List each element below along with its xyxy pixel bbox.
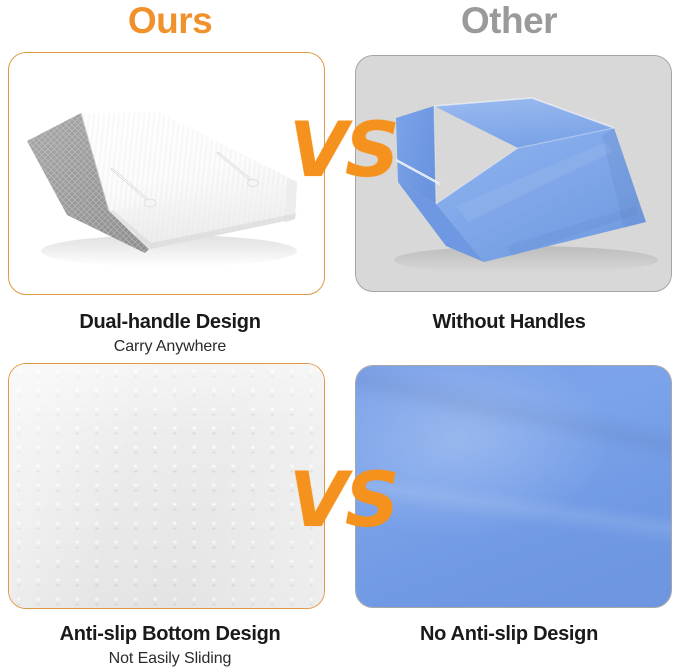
header-ours-label: Ours [0, 0, 340, 44]
vs-badge-row2: VS [289, 462, 397, 538]
other-caption-title-row1: Without Handles [339, 310, 679, 334]
white-wedge-pillow-illustration [9, 53, 323, 293]
white-wedge-pillow-image [9, 53, 324, 294]
blue-wedge-pillow-image [356, 56, 671, 291]
ours-caption-row2: Anti-slip Bottom Design Not Easily Slidi… [0, 622, 340, 669]
ours-product-panel-row2 [8, 363, 325, 609]
comparison-header-row: Ours Other [0, 0, 679, 46]
blue-wedge-pillow-illustration [356, 56, 670, 290]
ours-caption-title-row1: Dual-handle Design [0, 310, 340, 334]
vs-badge-row1: VS [289, 112, 397, 188]
header-other-label: Other [339, 0, 679, 44]
other-product-panel-row1 [355, 55, 672, 292]
ours-caption-sub-row1: Carry Anywhere [0, 336, 340, 357]
ours-caption-sub-row2: Not Easily Sliding [0, 648, 340, 669]
ours-caption-row1: Dual-handle Design Carry Anywhere [0, 310, 340, 357]
other-caption-title-row2: No Anti-slip Design [339, 622, 679, 646]
anti-slip-surface-sheen [9, 364, 324, 608]
blue-fabric-crease-shading [356, 366, 671, 607]
other-caption-row1: Without Handles [339, 310, 679, 334]
ours-product-panel-row1 [8, 52, 325, 295]
other-product-panel-row2 [355, 365, 672, 608]
other-caption-row2: No Anti-slip Design [339, 622, 679, 646]
ours-caption-title-row2: Anti-slip Bottom Design [0, 622, 340, 646]
